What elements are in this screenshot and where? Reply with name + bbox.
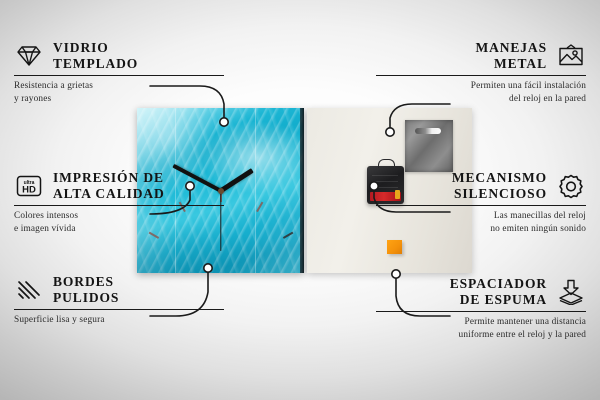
- hanger-slot: [415, 128, 441, 134]
- feature-metal-hangers: MANEJAS METAL Permiten una fácil instala…: [376, 40, 586, 107]
- feature-desc-line2: no emiten ningún sonido: [376, 223, 586, 236]
- feature-description: Resistencia a grietas y rayones: [14, 80, 224, 106]
- feature-foam-spacer: ESPACIADOR DE ESPUMA Permite mantener un…: [376, 276, 586, 343]
- feature-underline: [376, 311, 586, 312]
- feature-title-line1: MECANISMO: [452, 170, 547, 186]
- foam-spacer-arrow-icon: [556, 277, 586, 307]
- feature-polished-edges: BORDES PULIDOS Superficie lisa y segura: [14, 274, 224, 327]
- clock-side-edge: [300, 108, 304, 273]
- feature-desc-line1: Superficie lisa y segura: [14, 314, 224, 327]
- feature-underline: [14, 309, 224, 310]
- polished-edges-icon: [14, 275, 44, 305]
- feature-description: Superficie lisa y segura: [14, 314, 224, 327]
- feature-desc-line2: y rayones: [14, 93, 224, 106]
- feature-title: ESPACIADOR DE ESPUMA: [450, 276, 547, 308]
- ultra-hd-icon: ultra HD: [14, 171, 44, 201]
- diamond-icon: [14, 41, 44, 71]
- feature-header: ESPACIADOR DE ESPUMA: [376, 276, 586, 308]
- feature-description: Permite mantener una distancia uniforme …: [376, 316, 586, 342]
- svg-text:HD: HD: [22, 184, 36, 195]
- feature-description: Las manecillas del reloj no emiten ningú…: [376, 210, 586, 236]
- metal-hanger-plate: [405, 120, 453, 172]
- infographic-canvas: VIDRIO TEMPLADO Resistencia a grietas y …: [0, 0, 600, 400]
- feature-title: IMPRESIÓN DE ALTA CALIDAD: [53, 170, 165, 202]
- feature-title: BORDES PULIDOS: [53, 274, 119, 306]
- hour-mark-2: [282, 231, 293, 238]
- feature-title-line1: IMPRESIÓN DE: [53, 170, 165, 186]
- feature-silent-movement: MECANISMO SILENCIOSO Las manecillas del …: [376, 170, 586, 237]
- feature-desc-line1: Resistencia a grietas: [14, 80, 224, 93]
- feature-hd-print: ultra HD IMPRESIÓN DE ALTA CALIDAD Color…: [14, 170, 224, 237]
- feature-underline: [376, 75, 586, 76]
- feature-tempered-glass: VIDRIO TEMPLADO Resistencia a grietas y …: [14, 40, 224, 107]
- feature-description: Permiten una fácil instalación del reloj…: [376, 80, 586, 106]
- feature-desc-line1: Permite mantener una distancia: [376, 316, 586, 329]
- feature-desc-line1: Las manecillas del reloj: [376, 210, 586, 223]
- feature-desc-line2: e imagen vívida: [14, 223, 224, 236]
- feature-header: MANEJAS METAL: [376, 40, 586, 72]
- feature-desc-line1: Colores intensos: [14, 210, 224, 223]
- feature-underline: [14, 205, 224, 206]
- feature-title-line2: SILENCIOSO: [452, 186, 547, 202]
- movement-hook: [378, 159, 395, 168]
- feature-desc-line1: Permiten una fácil instalación: [376, 80, 586, 93]
- feature-title: MANEJAS METAL: [475, 40, 547, 72]
- feature-title: MECANISMO SILENCIOSO: [452, 170, 547, 202]
- feature-header: VIDRIO TEMPLADO: [14, 40, 224, 72]
- feature-desc-line2: uniforme entre el reloj y la pared: [376, 329, 586, 342]
- feature-title: VIDRIO TEMPLADO: [53, 40, 138, 72]
- wall-frame-hanger-icon: [556, 41, 586, 71]
- feature-header: BORDES PULIDOS: [14, 274, 224, 306]
- feature-title-line2: TEMPLADO: [53, 56, 138, 72]
- feature-title-line1: MANEJAS: [475, 40, 547, 56]
- feature-title-line2: ALTA CALIDAD: [53, 186, 165, 202]
- foam-spacer-pad: [387, 240, 402, 254]
- feature-underline: [14, 75, 224, 76]
- feature-title-line2: METAL: [475, 56, 547, 72]
- feature-desc-line2: del reloj en la pared: [376, 93, 586, 106]
- hour-mark-1: [256, 201, 263, 212]
- hour-mark-9: [138, 273, 149, 274]
- feature-title-line1: BORDES: [53, 274, 119, 290]
- feature-underline: [376, 205, 586, 206]
- feature-title-line1: VIDRIO: [53, 40, 138, 56]
- gear-icon: [556, 171, 586, 201]
- feature-header: MECANISMO SILENCIOSO: [376, 170, 586, 202]
- feature-description: Colores intensos e imagen vívida: [14, 210, 224, 236]
- feature-title-line2: DE ESPUMA: [450, 292, 547, 308]
- feature-title-line1: ESPACIADOR: [450, 276, 547, 292]
- feature-title-line2: PULIDOS: [53, 290, 119, 306]
- feature-header: ultra HD IMPRESIÓN DE ALTA CALIDAD: [14, 170, 224, 202]
